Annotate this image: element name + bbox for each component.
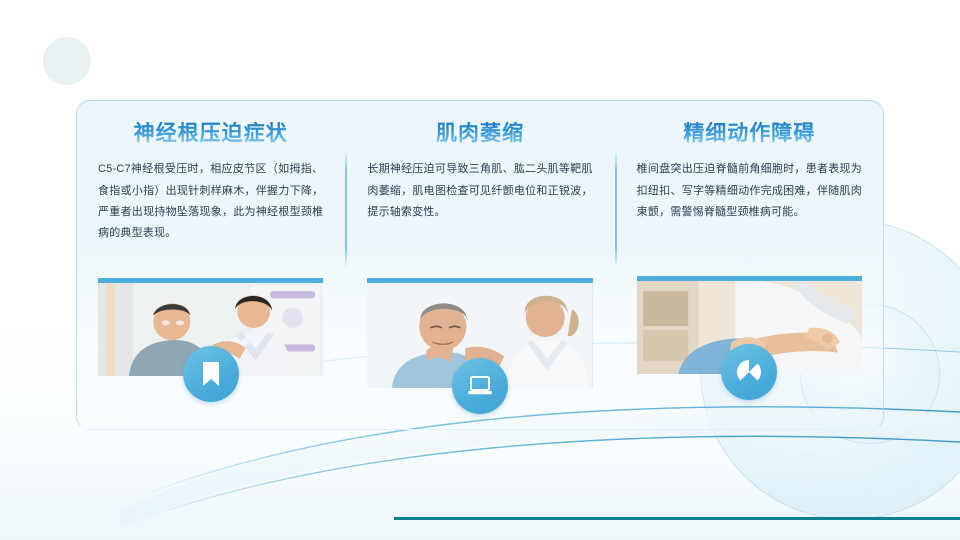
pie-chart-icon <box>736 359 762 385</box>
symptom-column-1: 神经根压迫症状 C5-C7神经根受压时，相应皮节区（如拇指、食指或小指）出现针刺… <box>76 100 345 430</box>
bookmark-icon-badge[interactable] <box>183 346 239 402</box>
column-body-1: C5-C7神经根受压时，相应皮节区（如拇指、食指或小指）出现针刺样麻木，伴握力下… <box>98 159 323 245</box>
photo-block-3 <box>637 276 862 374</box>
column-title-1: 神经根压迫症状 <box>98 122 323 145</box>
column-body-3: 椎间盘突出压迫脊髓前角细胞时，患者表现为扣纽扣、写字等精细动作完成困难，伴随肌肉… <box>637 159 862 223</box>
bookmark-icon <box>200 361 222 387</box>
laptop-icon <box>467 375 493 397</box>
slide-canvas: 神经根压迫症状 C5-C7神经根受压时，相应皮节区（如拇指、食指或小指）出现针刺… <box>0 0 960 540</box>
column-title-3: 精细动作障碍 <box>637 122 862 145</box>
column-body-2: 长期神经压迫可导致三角肌、肱二头肌等靶肌肉萎缩，肌电图检查可见纤颤电位和正锐波，… <box>367 159 592 223</box>
pie-chart-icon-badge[interactable] <box>721 344 777 400</box>
symptom-column-2: 肌肉萎缩 长期神经压迫可导致三角肌、肱二头肌等靶肌肉萎缩，肌电图检查可见纤颤电位… <box>345 100 614 430</box>
symptom-column-3: 精细动作障碍 椎间盘突出压迫脊髓前角细胞时，患者表现为扣纽扣、写字等精细动作完成… <box>615 100 884 430</box>
columns-container: 神经根压迫症状 C5-C7神经根受压时，相应皮节区（如拇指、食指或小指）出现针刺… <box>76 100 884 430</box>
column-title-2: 肌肉萎缩 <box>367 122 592 145</box>
bottom-accent-rule <box>394 517 960 520</box>
photo-block-1 <box>98 278 323 376</box>
top-left-circle-decoration <box>43 37 91 85</box>
laptop-icon-badge[interactable] <box>452 358 508 414</box>
photo-block-2 <box>367 278 592 388</box>
